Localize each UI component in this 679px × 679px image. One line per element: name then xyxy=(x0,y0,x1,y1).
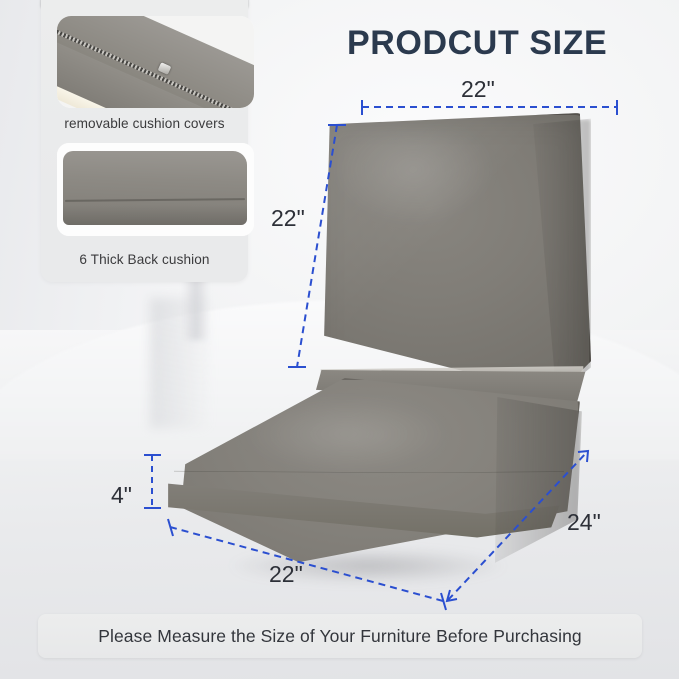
back-cushion xyxy=(313,113,591,395)
feature-caption-removable-covers: removable cushion covers xyxy=(41,116,248,131)
dimension-label-seat-width: 22" xyxy=(269,561,303,588)
measure-notice-banner: Please Measure the Size of Your Furnitur… xyxy=(38,614,642,658)
back-cushion-closeup-photo xyxy=(57,143,254,236)
zipper-closeup-photo xyxy=(57,16,254,108)
feature-panel: removable cushion covers 6 Thick Back cu… xyxy=(41,0,248,282)
measure-notice-text: Please Measure the Size of Your Furnitur… xyxy=(98,626,582,647)
back-cushion-photo-shading xyxy=(63,205,247,225)
product-size-infographic: PRODCUT SIZE removable cushion covers 6 … xyxy=(0,0,679,679)
dimension-label-back-height: 22" xyxy=(271,205,305,232)
dimension-label-seat-thickness: 4" xyxy=(111,482,132,509)
seat-cushion xyxy=(160,378,580,574)
page-title: PRODCUT SIZE xyxy=(347,24,607,63)
dimension-label-back-width: 22" xyxy=(461,76,495,103)
feature-caption-thick-back-cushion: 6 Thick Back cushion xyxy=(41,252,248,267)
dimension-label-seat-depth: 24" xyxy=(567,509,601,536)
back-cushion-piping xyxy=(313,113,591,395)
